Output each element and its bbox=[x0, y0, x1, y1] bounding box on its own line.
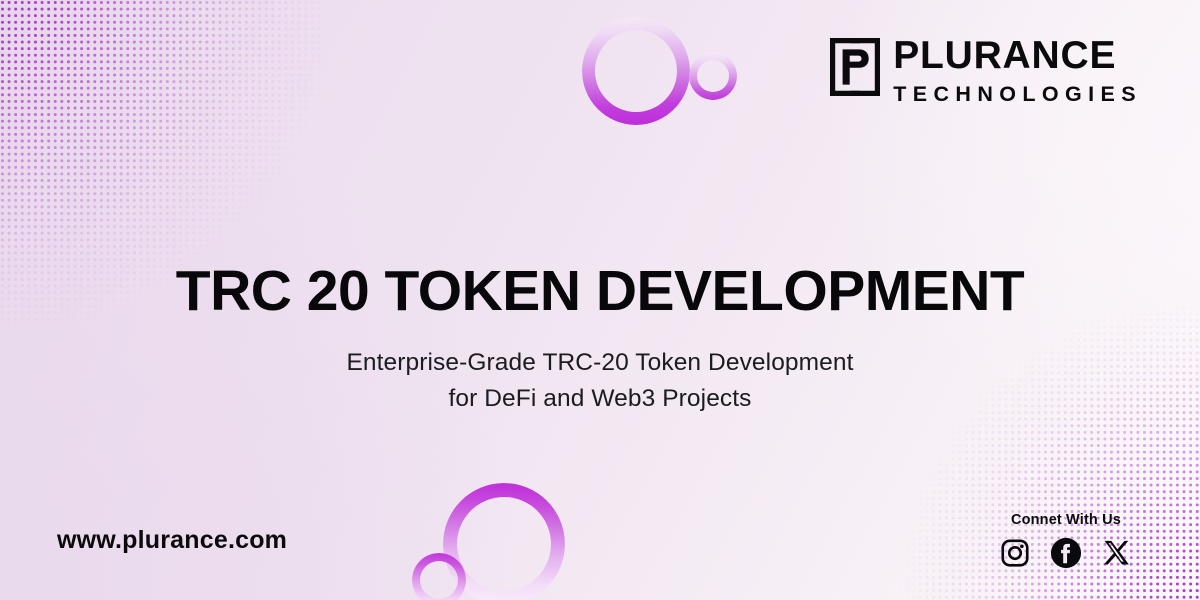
x-twitter-icon bbox=[1103, 539, 1132, 568]
website-url-link[interactable]: www.plurance.com bbox=[57, 526, 287, 555]
x-twitter-link[interactable] bbox=[1100, 536, 1134, 570]
brand-logo[interactable]: PLURANCE TECHNOLOGIES bbox=[830, 36, 1142, 106]
facebook-icon bbox=[1050, 537, 1082, 569]
social-links-section: Connet With Us bbox=[998, 512, 1134, 570]
social-heading: Connet With Us bbox=[1011, 512, 1121, 528]
gradient-ring-icon bbox=[689, 52, 737, 100]
promotional-banner: PLURANCE TECHNOLOGIES TRC 20 TOKEN DEVEL… bbox=[0, 0, 1200, 600]
instagram-link[interactable] bbox=[998, 536, 1032, 570]
page-subtitle: Enterprise-Grade TRC-20 Token Developmen… bbox=[0, 345, 1200, 416]
instagram-icon bbox=[1000, 538, 1030, 568]
hero-copy: TRC 20 TOKEN DEVELOPMENT Enterprise-Grad… bbox=[0, 262, 1200, 416]
brand-wordmark: PLURANCE TECHNOLOGIES bbox=[893, 36, 1142, 106]
social-icon-row bbox=[998, 536, 1134, 570]
gradient-ring-icon bbox=[443, 483, 565, 600]
page-subtitle-line-2: for DeFi and Web3 Projects bbox=[448, 385, 751, 412]
brand-name: PLURANCE bbox=[893, 36, 1142, 75]
gradient-ring-icon bbox=[582, 17, 690, 125]
plurance-bracket-p-logo-icon bbox=[830, 38, 880, 101]
gradient-ring-icon bbox=[412, 553, 466, 600]
page-title: TRC 20 TOKEN DEVELOPMENT bbox=[0, 262, 1200, 321]
facebook-link[interactable] bbox=[1049, 536, 1083, 570]
brand-tagline: TECHNOLOGIES bbox=[893, 84, 1142, 106]
page-subtitle-line-1: Enterprise-Grade TRC-20 Token Developmen… bbox=[346, 349, 853, 376]
